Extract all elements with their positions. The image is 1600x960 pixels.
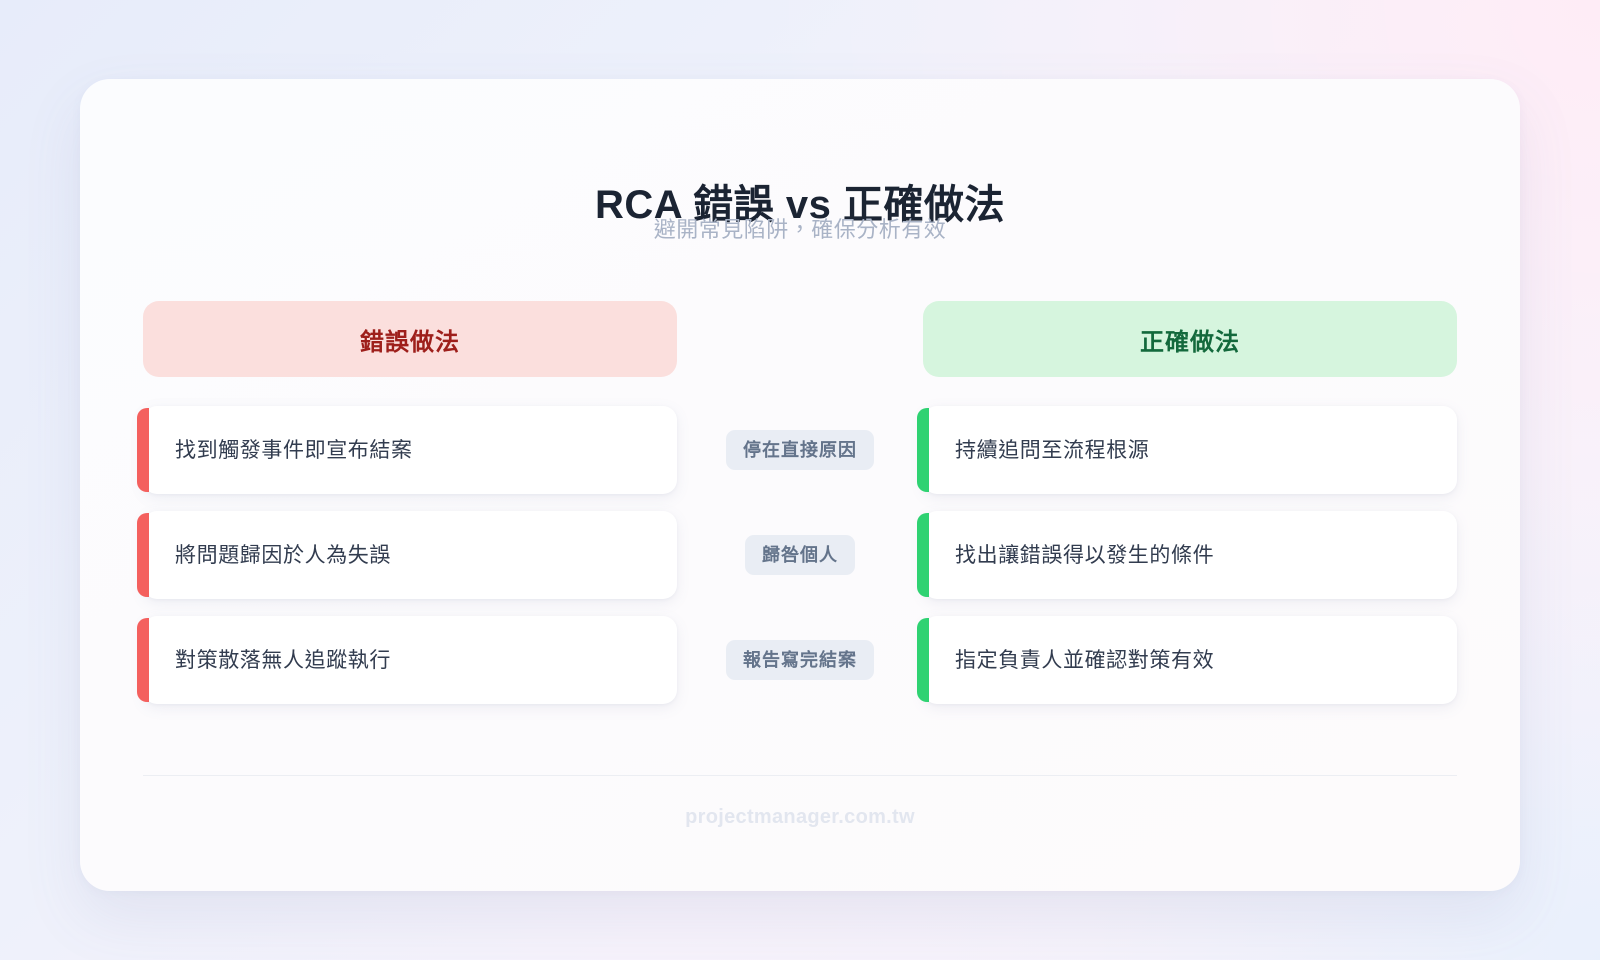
row-center: 停在直接原因 [677,430,923,470]
page-subtitle: 避開常見陷阱，確保分析有效 [80,212,1520,244]
column-header-spacer [677,301,923,377]
bad-practice-card: 對策散落無人追蹤執行 [143,616,677,704]
bad-accent-bar [137,618,149,702]
good-accent-bar [917,408,929,492]
bad-practice-card: 將問題歸因於人為失誤 [143,511,677,599]
column-header-good: 正確做法 [923,301,1457,377]
bad-accent-bar [137,513,149,597]
row-center: 歸咎個人 [677,535,923,575]
bad-accent-bar [137,408,149,492]
good-practice-text: 持續追問至流程根源 [955,440,1149,461]
footer-site: projectmanager.com.tw [80,806,1520,829]
bad-practice-text: 將問題歸因於人為失誤 [175,545,391,566]
footer-divider [143,775,1457,776]
bad-practice-card: 找到觸發事件即宣布結案 [143,406,677,494]
comparison-rows: 找到觸發事件即宣布結案 停在直接原因 持續追問至流程根源 將問題歸因於人為失誤 … [143,406,1457,704]
pitfall-chip: 歸咎個人 [745,535,855,575]
comparison-row: 將問題歸因於人為失誤 歸咎個人 找出讓錯誤得以發生的條件 [143,511,1457,599]
good-practice-card: 找出讓錯誤得以發生的條件 [923,511,1457,599]
comparison-row: 找到觸發事件即宣布結案 停在直接原因 持續追問至流程根源 [143,406,1457,494]
page-root: RCA 錯誤 vs 正確做法 避開常見陷阱，確保分析有效 錯誤做法 正確做法 找… [0,0,1600,960]
pitfall-chip: 停在直接原因 [726,430,874,470]
comparison-card: RCA 錯誤 vs 正確做法 避開常見陷阱，確保分析有效 錯誤做法 正確做法 找… [80,79,1520,891]
bad-practice-text: 對策散落無人追蹤執行 [175,650,391,671]
row-center: 報告寫完結案 [677,640,923,680]
good-practice-card: 指定負責人並確認對策有效 [923,616,1457,704]
good-practice-text: 指定負責人並確認對策有效 [955,650,1214,671]
bad-practice-text: 找到觸發事件即宣布結案 [175,440,413,461]
column-headers: 錯誤做法 正確做法 [143,301,1457,377]
good-practice-card: 持續追問至流程根源 [923,406,1457,494]
good-practice-text: 找出讓錯誤得以發生的條件 [955,545,1214,566]
comparison-row: 對策散落無人追蹤執行 報告寫完結案 指定負責人並確認對策有效 [143,616,1457,704]
good-accent-bar [917,618,929,702]
column-header-bad: 錯誤做法 [143,301,677,377]
good-accent-bar [917,513,929,597]
pitfall-chip: 報告寫完結案 [726,640,874,680]
